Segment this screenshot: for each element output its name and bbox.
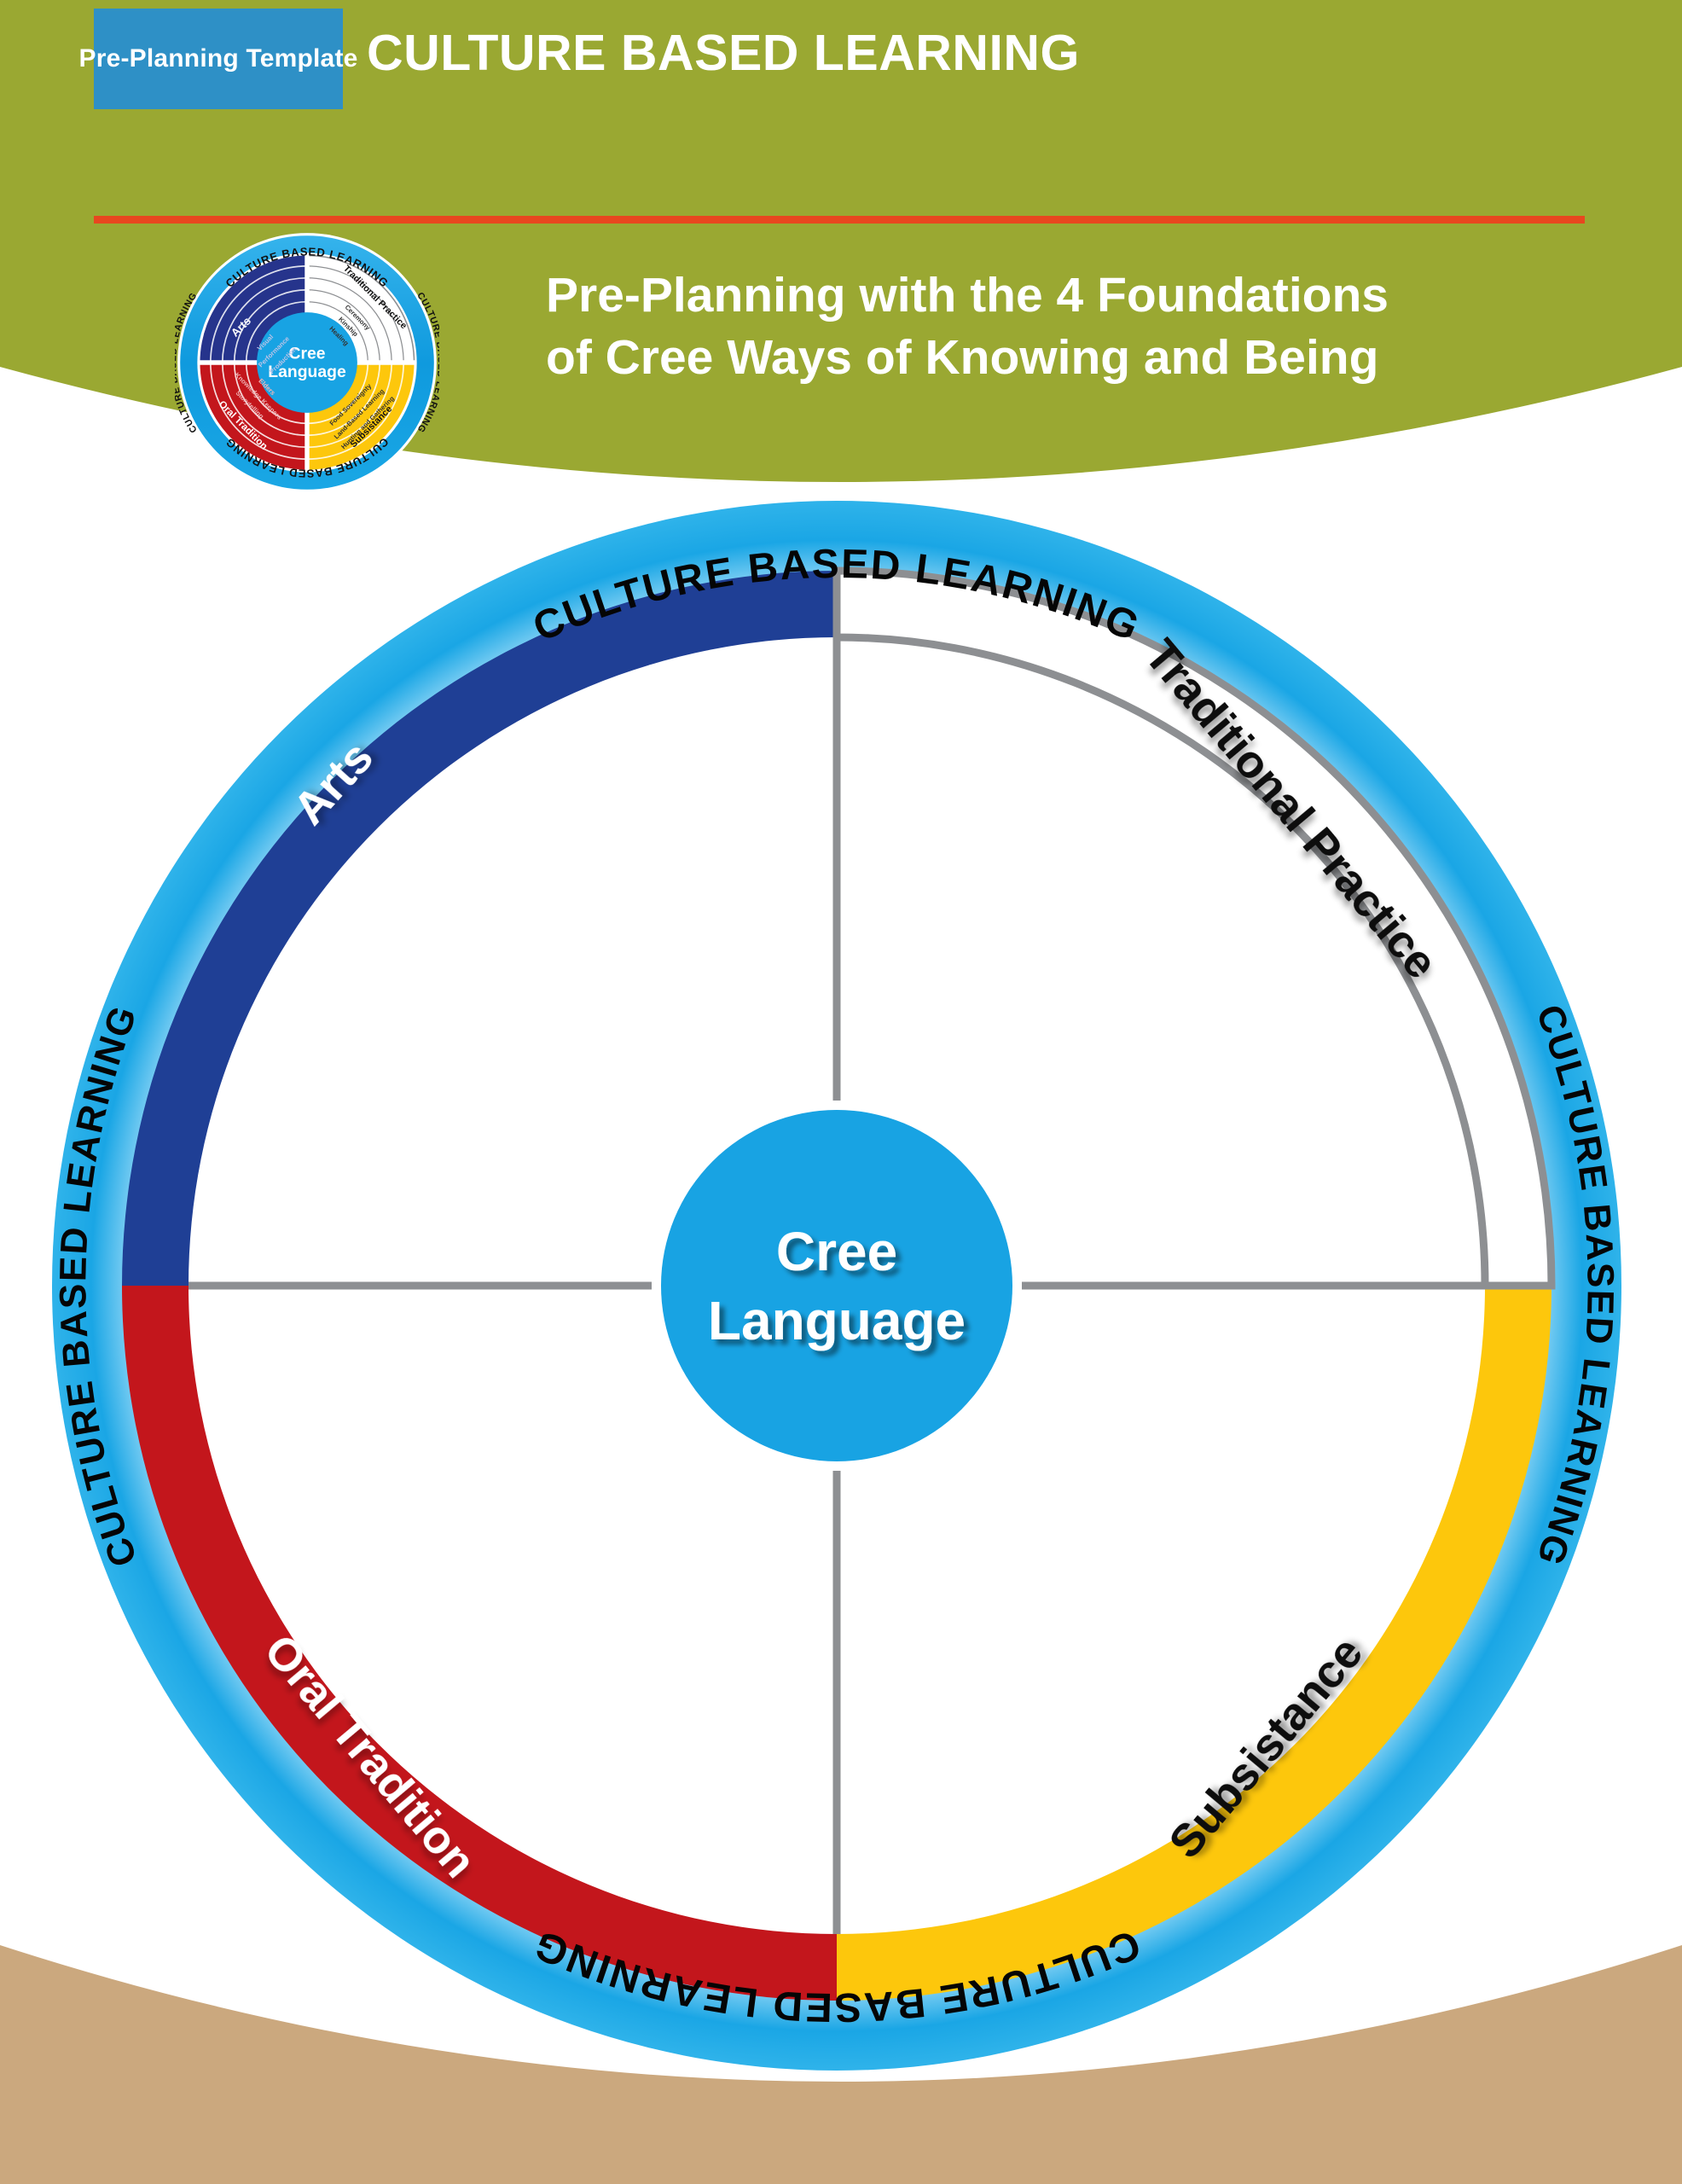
footer-tan-band [0,1860,1682,2184]
page-canvas: Pre-Planning Template CULTURE BASED LEAR… [0,0,1682,2184]
wheel-center-label-line-1: Cree [776,1221,897,1282]
cree-wheel-logo: Cree Language CULTURE BASED LEARNING CUL… [175,230,439,495]
wheel-center-label-line-2: Language [708,1290,966,1351]
subtitle-line-1: Pre-Planning with the 4 Foundations [546,264,1621,327]
page-title: CULTURE BASED LEARNING [367,24,1080,82]
subtitle-line-2: of Cree Ways of Knowing and Being [546,327,1621,389]
wheel-center-circle [661,1110,1012,1461]
pre-planning-template-badge: Pre-Planning Template [94,9,343,109]
page-subtitle: Pre-Planning with the 4 Foundations of C… [546,264,1621,389]
footer-tan-fill [0,1945,1682,2184]
badge-label: Pre-Planning Template [78,44,357,73]
